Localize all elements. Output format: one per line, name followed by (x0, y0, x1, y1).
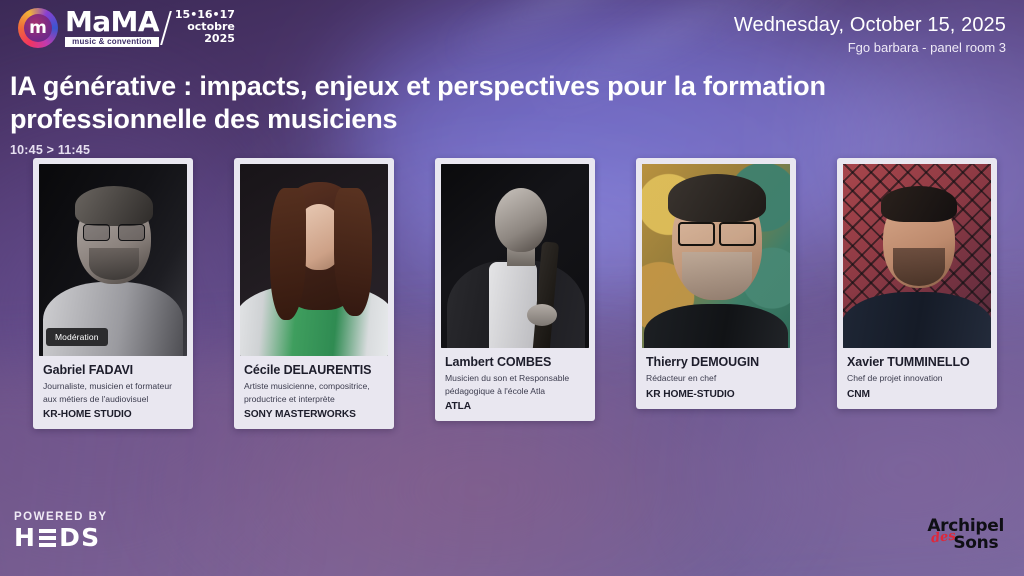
mama-monogram: m (29, 20, 47, 37)
speaker-name: Gabriel FADAVI (43, 363, 183, 377)
moderation-badge: Modération (46, 328, 108, 346)
speaker-portrait-image (843, 164, 991, 348)
speaker-name: Thierry DEMOUGIN (646, 355, 786, 369)
speaker-photo (642, 164, 790, 348)
speaker-name: Cécile DELAURENTIS (244, 363, 384, 377)
presentation-slide: m MaMA music & convention 15•16•17 octob… (0, 0, 1024, 576)
session-title: IA générative : impacts, enjeux et persp… (10, 70, 1000, 136)
speaker-info: Gabriel FADAVI Journaliste, musicien et … (39, 356, 187, 429)
speaker-role: Artiste musicienne, compositrice, produc… (244, 380, 384, 404)
heeds-part-one: H (14, 525, 36, 550)
speaker-role: Journaliste, musicien et formateur aux m… (43, 380, 183, 404)
speaker-card[interactable]: Lambert COMBES Musicien du son et Respon… (435, 158, 595, 421)
speaker-name: Lambert COMBES (445, 355, 585, 369)
mama-logo-text: MaMA music & convention 15•16•17 octobre… (65, 9, 235, 48)
archipel-des-sons-logo: Archipel Sons des (927, 518, 1004, 552)
speaker-photo (843, 164, 991, 348)
mama-logo-tagline: music & convention (65, 37, 159, 48)
event-date: Wednesday, October 15, 2025 (734, 14, 1006, 37)
speaker-portrait-image (240, 164, 388, 356)
session-time: 10:45 > 11:45 (10, 143, 1000, 157)
logo-slash-divider (160, 11, 172, 45)
speaker-organization: KR-HOME STUDIO (43, 409, 183, 420)
speaker-photo (441, 164, 589, 348)
mama-logo-name: MaMA (65, 9, 159, 36)
speaker-card[interactable]: Modération Gabriel FADAVI Journaliste, m… (33, 158, 193, 429)
session-header: IA générative : impacts, enjeux et persp… (10, 70, 1000, 157)
festival-dates-year: 2025 (204, 33, 235, 45)
speaker-photo: Modération (39, 164, 187, 356)
powered-by-label: POWERED BY (14, 511, 108, 523)
speaker-organization: SONY MASTERWORKS (244, 409, 384, 420)
sponsor-script-word: des (931, 530, 957, 546)
speaker-organization: ATLA (445, 401, 585, 412)
mama-wordmark: MaMA music & convention (65, 9, 159, 47)
powered-by-heeds-logo: POWERED BY H DS (14, 511, 108, 550)
speaker-card[interactable]: Xavier TUMMINELLO Chef de projet innovat… (837, 158, 997, 409)
speaker-info: Cécile DELAURENTIS Artiste musicienne, c… (240, 356, 388, 429)
speaker-portrait-image (441, 164, 589, 348)
heeds-wordmark: H DS (14, 525, 108, 550)
heeds-bars-icon (39, 529, 56, 547)
header-meta: Wednesday, October 15, 2025 Fgo barbara … (734, 14, 1006, 55)
speaker-organization: CNM (847, 389, 987, 400)
speaker-name: Xavier TUMMINELLO (847, 355, 987, 369)
festival-dates: 15•16•17 octobre 2025 (175, 9, 235, 48)
festival-dates-days: 15•16•17 (175, 9, 235, 21)
speaker-role: Rédacteur en chef (646, 372, 786, 384)
speaker-organization: KR HOME-STUDIO (646, 389, 786, 400)
speaker-info: Xavier TUMMINELLO Chef de projet innovat… (843, 348, 991, 409)
heeds-part-two: DS (59, 525, 100, 550)
speaker-card[interactable]: Thierry DEMOUGIN Rédacteur en chef KR HO… (636, 158, 796, 409)
speaker-info: Thierry DEMOUGIN Rédacteur en chef KR HO… (642, 348, 790, 409)
speaker-photo (240, 164, 388, 356)
event-room: Fgo barbara - panel room 3 (734, 40, 1006, 55)
mama-logo: m MaMA music & convention 15•16•17 octob… (18, 8, 235, 48)
speaker-info: Lambert COMBES Musicien du son et Respon… (441, 348, 589, 421)
mama-logo-icon: m (18, 8, 58, 48)
sponsor-line-two: Sons (953, 535, 1004, 552)
speaker-card[interactable]: Cécile DELAURENTIS Artiste musicienne, c… (234, 158, 394, 429)
speaker-role: Chef de projet innovation (847, 372, 987, 384)
speaker-list: Modération Gabriel FADAVI Journaliste, m… (33, 158, 997, 429)
slide-header: m MaMA music & convention 15•16•17 octob… (0, 0, 1024, 62)
speaker-portrait-image (642, 164, 790, 348)
speaker-role: Musicien du son et Responsable pédagogiq… (445, 372, 585, 396)
